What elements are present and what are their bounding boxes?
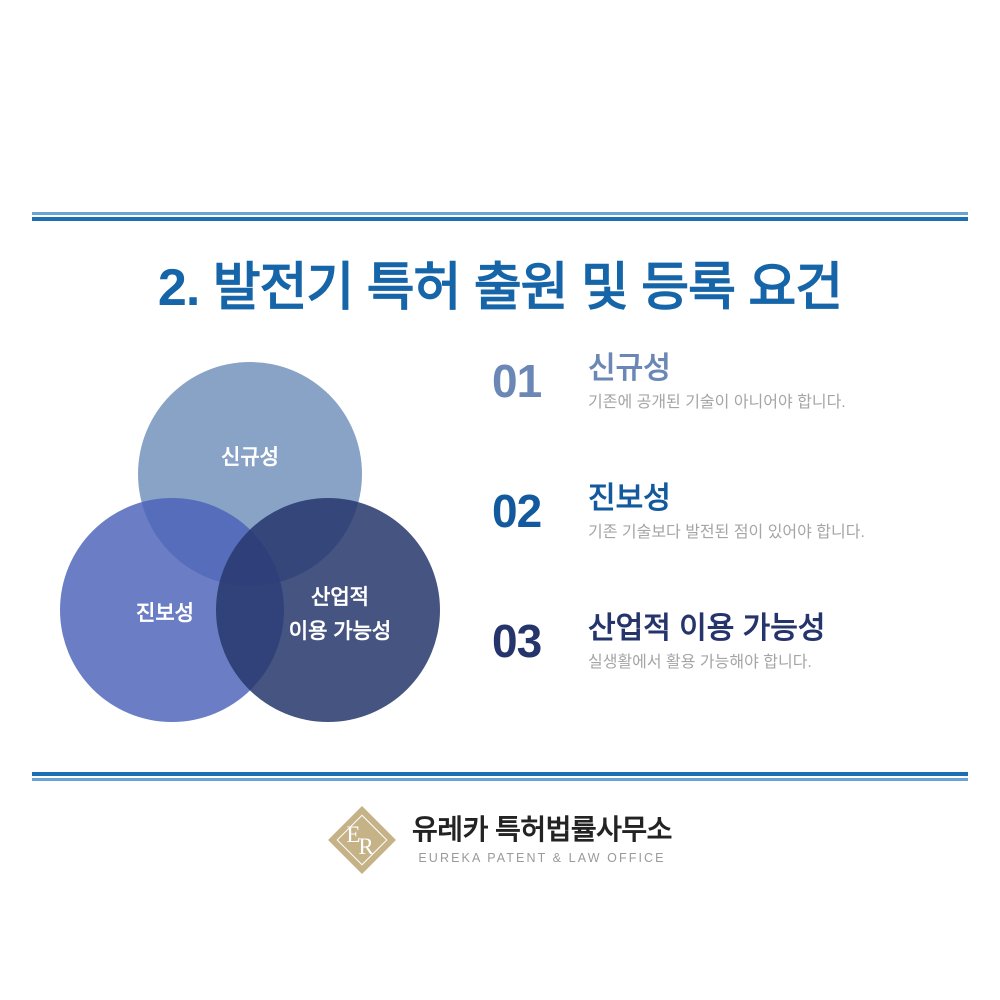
requirement-body-02: 진보성 기존 기술보다 발전된 점이 있어야 합니다. <box>588 480 962 544</box>
divider-bottom-line-light <box>32 778 968 781</box>
diamond-logo-icon: E R <box>328 806 396 874</box>
requirement-item-03: 03 산업적 이용 가능성 실생활에서 활용 가능해야 합니다. <box>492 610 962 694</box>
venn-label-inventiveness: 진보성 <box>136 602 194 625</box>
requirement-heading-03: 산업적 이용 가능성 <box>588 610 962 648</box>
venn-svg: 신규성 진보성 산업적 이용 가능성 <box>60 352 440 732</box>
requirement-heading-02: 진보성 <box>588 480 962 518</box>
venn-label-industrial-line2: 이용 가능성 <box>289 620 391 643</box>
requirements-list: 01 신규성 기존에 공개된 기술이 아니어야 합니다. 02 진보성 기존 기… <box>492 350 962 740</box>
logo-monogram-r: R <box>358 835 373 858</box>
firm-name-korean: 유레카 특허법률사무소 <box>412 815 672 846</box>
divider-bottom <box>32 772 968 781</box>
requirement-number-01: 01 <box>492 350 588 404</box>
requirement-number-03: 03 <box>492 610 588 664</box>
venn-label-industrial-line1: 산업적 <box>311 586 369 609</box>
requirement-description-03: 실생활에서 활용 가능해야 합니다. <box>588 652 962 674</box>
requirement-description-01: 기존에 공개된 기술이 아니어야 합니다. <box>588 392 962 414</box>
requirement-description-02: 기존 기술보다 발전된 점이 있어야 합니다. <box>588 522 962 544</box>
venn-circle-industrial <box>216 498 440 722</box>
requirement-item-02: 02 진보성 기존 기술보다 발전된 점이 있어야 합니다. <box>492 480 962 564</box>
divider-bottom-line-dark <box>32 772 968 776</box>
requirement-body-03: 산업적 이용 가능성 실생활에서 활용 가능해야 합니다. <box>588 610 962 674</box>
divider-top-line-light <box>32 212 968 215</box>
requirement-number-02: 02 <box>492 480 588 534</box>
venn-diagram: 신규성 진보성 산업적 이용 가능성 <box>60 352 440 732</box>
footer-logo: E R 유레카 특허법률사무소 EUREKA PATENT & LAW OFFI… <box>0 806 1000 874</box>
requirement-heading-01: 신규성 <box>588 350 962 388</box>
firm-name-english: EUREKA PATENT & LAW OFFICE <box>412 851 672 865</box>
logo-monogram: E R <box>328 806 396 874</box>
page-title: 2. 발전기 특허 출원 및 등록 요건 <box>0 245 1000 320</box>
divider-top-line-dark <box>32 217 968 221</box>
requirement-body-01: 신규성 기존에 공개된 기술이 아니어야 합니다. <box>588 350 962 414</box>
divider-top <box>32 212 968 221</box>
slide-canvas: 2. 발전기 특허 출원 및 등록 요건 신규성 진보성 산업적 이용 가능성 … <box>0 0 1000 1000</box>
venn-label-novelty: 신규성 <box>221 446 279 469</box>
logo-text-block: 유레카 특허법률사무소 EUREKA PATENT & LAW OFFICE <box>412 815 672 866</box>
requirement-item-01: 01 신규성 기존에 공개된 기술이 아니어야 합니다. <box>492 350 962 434</box>
